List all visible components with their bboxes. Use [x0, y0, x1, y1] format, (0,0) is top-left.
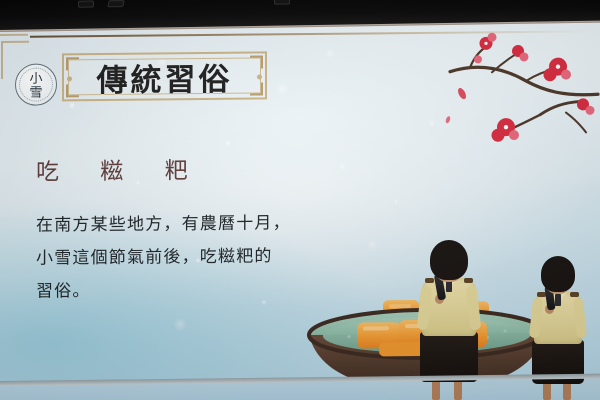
plum-blossom-branch	[440, 22, 600, 144]
classroom-stage-scene: 小 雪 傳統習俗	[0, 0, 600, 400]
ceiling-fixture-2	[107, 0, 124, 7]
xiaoxue-seal: 小 雪	[15, 63, 57, 105]
presenter-right-bangs	[543, 261, 573, 274]
ceiling-fixture-1	[78, 1, 94, 8]
seal-char-bottom: 雪	[29, 85, 42, 98]
body-line-2: 小雪這個節氣前後，吃糍粑的	[36, 239, 366, 275]
presenter-left-leg-2	[454, 380, 462, 400]
ceiling-fixture-3	[274, 0, 290, 5]
epaulette-right	[570, 292, 579, 297]
epaulette-left	[425, 278, 434, 283]
presenter-right-tie	[555, 294, 561, 306]
presenter-right-leg-1	[543, 382, 551, 400]
slide-title: 傳統習俗	[64, 53, 265, 99]
falling-petal	[456, 87, 467, 101]
presenter-left-leg-1	[432, 380, 440, 400]
slide-subheading: 吃 糍 粑	[36, 151, 205, 187]
projected-slide: 小 雪 傳統習俗	[0, 22, 600, 383]
seal-char-top: 小	[29, 71, 42, 84]
title-frame: 傳統習俗	[62, 51, 267, 101]
presenter-left-bangs	[432, 246, 466, 260]
presenter-right-leg-2	[563, 382, 571, 400]
body-line-1: 在南方某些地方，有農曆十月，	[36, 206, 366, 242]
epaulette-right	[464, 278, 473, 283]
